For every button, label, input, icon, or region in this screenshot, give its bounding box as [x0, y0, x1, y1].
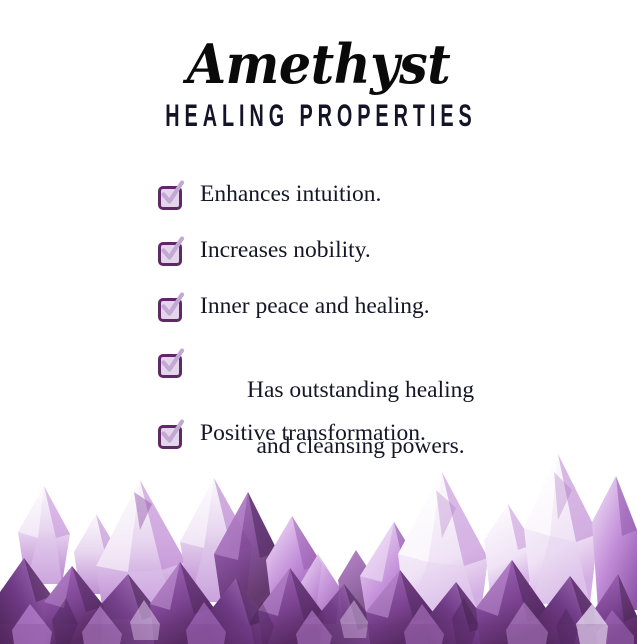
list-item: Increases nobility.	[157, 236, 371, 265]
list-item: Inner peace and healing.	[157, 292, 430, 321]
checkbox-checked-icon	[157, 352, 182, 377]
list-item-label: Enhances intuition.	[200, 180, 381, 208]
checkbox-checked-icon	[157, 240, 182, 265]
list-item-label: Inner peace and healing.	[200, 292, 430, 320]
list-item: Enhances intuition.	[157, 180, 381, 209]
page-title: Amethyst	[19, 0, 618, 91]
poster-header: Amethyst HEALING PROPERTIES	[0, 0, 637, 131]
checkbox-checked-icon	[157, 423, 182, 448]
page-subtitle: HEALING PROPERTIES	[108, 90, 528, 132]
list-item-label: Positive transformation.	[200, 419, 426, 447]
list-item-label-line: Has outstanding healing	[247, 377, 474, 403]
amethyst-healing-properties-poster: Amethyst HEALING PROPERTIES Enhances int…	[0, 0, 637, 644]
list-item-label: Increases nobility.	[200, 236, 371, 264]
list-item: Positive transformation.	[157, 419, 426, 448]
list-item: Has outstanding healing and cleansing po…	[157, 348, 474, 488]
checkbox-checked-icon	[157, 296, 182, 321]
list-item-label-group: Has outstanding healing and cleansing po…	[200, 348, 474, 488]
checkbox-checked-icon	[157, 184, 182, 209]
